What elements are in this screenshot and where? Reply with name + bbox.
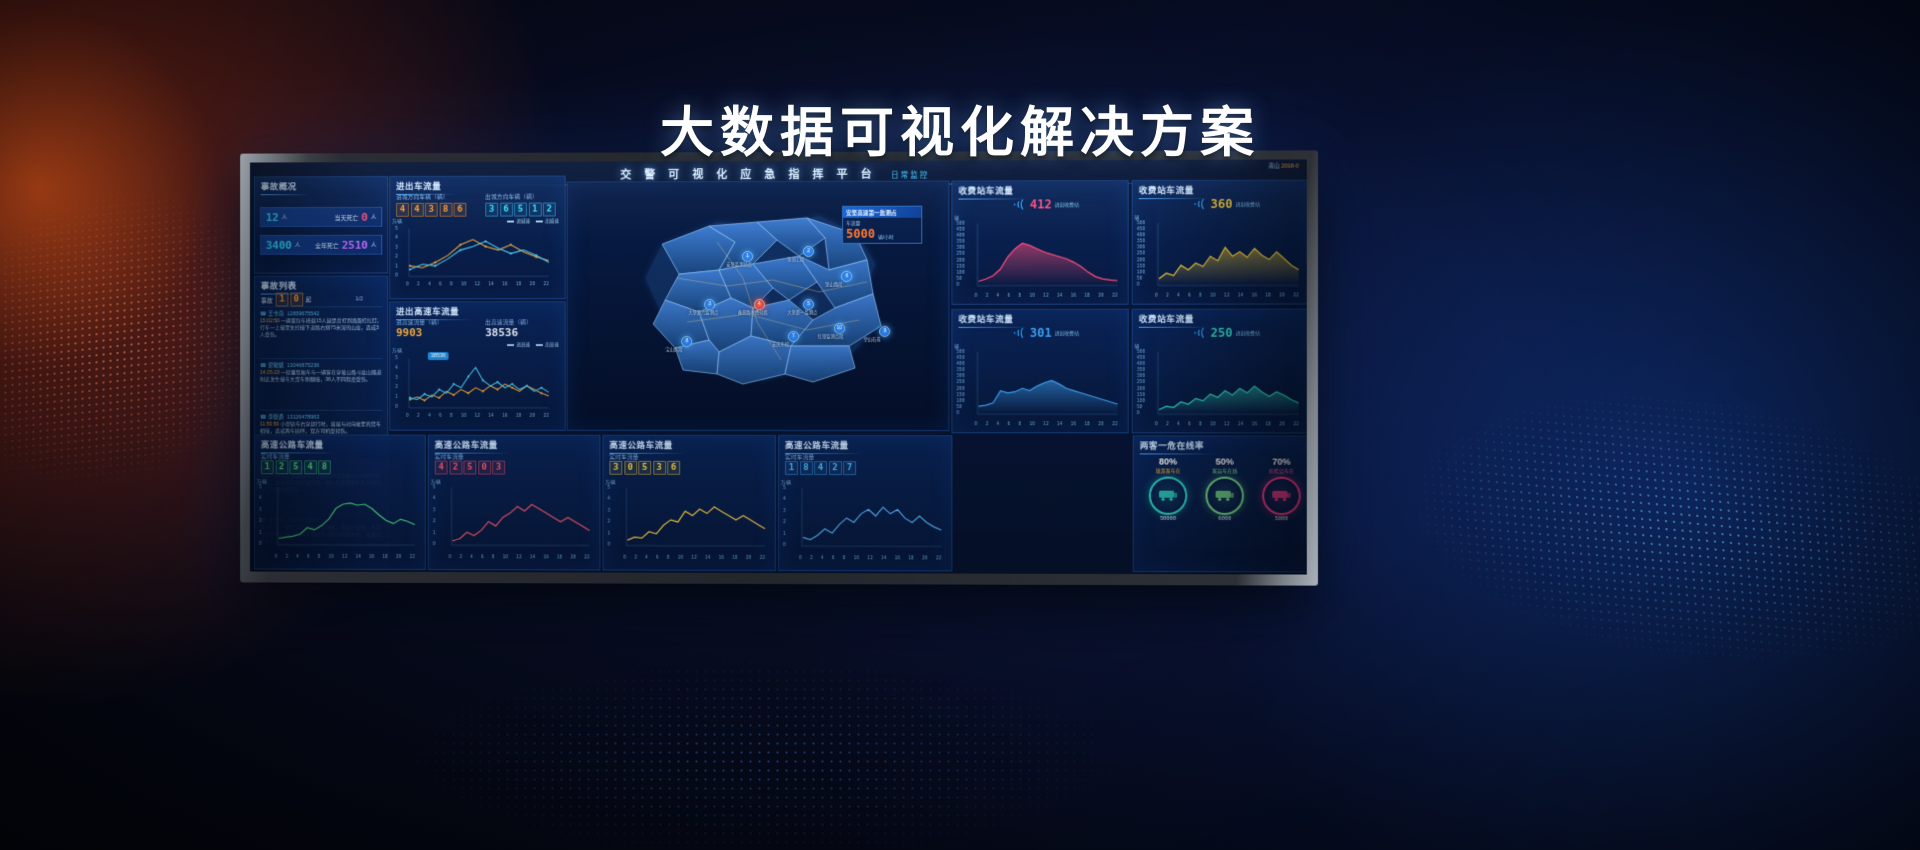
digit-cell: 0 [290,293,303,307]
x-tick: 16 [1071,294,1077,299]
x-tick: 0 [406,414,409,419]
y-tick: 0 [956,283,964,288]
y-tick: 0 [783,543,786,548]
toll-wave-4: 250进出收费站 [1189,326,1260,340]
x-tick: 8 [318,555,321,560]
y-tick: 300 [956,374,964,379]
list-item[interactable]: ☎ 李慷勇 1312647896311:50:50 小型轿车右穿超行时，直接与对… [260,410,382,436]
gauge-label-2: 客运车在线 [1198,468,1251,475]
stat-year-value2: 2510 [342,238,368,251]
y-tick: 3 [433,508,436,513]
x-tick: 12 [1224,294,1230,299]
y-tick: 5 [395,356,398,361]
x-tick: 14 [1057,422,1063,427]
x-tick: 6 [1007,294,1010,299]
panel-title-online-rate: 两客一危在线率 [1140,439,1204,451]
x-tick: 22 [1112,294,1118,299]
map-pin-label: 坚顶工段 [787,257,804,263]
y-tick: 300 [956,246,964,251]
x-tick: 12 [867,556,873,561]
x-tick: 18 [908,556,914,561]
x-tick: 6 [439,282,442,287]
x-tick: 4 [645,556,648,561]
digit-cell: 4 [814,461,827,475]
y-tick: 250 [956,252,964,257]
in-out-flow-legend: 进城速 出城速 [507,218,558,224]
y-tick: 150 [956,393,964,398]
y-tick: 200 [956,387,964,392]
digit-cell: 1 [528,203,541,217]
x-tick: 10 [854,556,860,561]
y-tick: 50 [956,277,964,282]
legend-in: 进城速 [507,219,530,225]
page-title: 大数据可视化解决方案 [660,88,1260,167]
x-tick: 4 [1177,294,1180,299]
x-tick: 20 [1098,422,1104,427]
x-tick: 20 [396,555,401,560]
callout-unit: 辆/小时 [878,234,894,241]
hw-flow-ylabel: 万/辆 [392,348,402,354]
y-tick: 4 [259,496,262,501]
digit-cell: 3 [425,203,438,217]
x-tick: 14 [1238,422,1244,427]
y-tick: 2 [259,519,262,524]
x-tick: 12 [1043,422,1049,427]
map-pin-4[interactable]: 4 [754,299,765,310]
map-pin-label: 红坚监测点段 [818,334,844,340]
x-tick: 18 [382,555,387,560]
panel-highway-flow-1: 高速公路车流量实时车流量12548万/辆54321002468101214161… [254,435,426,570]
poster-stage: 大数据可视化解决方案 交 警 可 视 化 应 急 指 挥 平 台 日常监控 南山… [0,0,1920,850]
accident-list-page[interactable]: 1/2 [356,296,364,302]
y-tick: 250 [1137,381,1145,386]
y-tick: 0 [395,405,398,410]
y-tick: 3 [395,376,398,381]
x-tick: 8 [450,282,453,287]
x-tick: 12 [1224,422,1230,427]
x-tick: 0 [799,556,802,561]
x-tick: 0 [1155,422,1158,427]
panel-title-highway-1: 高速公路车流量 [261,438,324,450]
panel-title-accident-list: 事故列表 [261,280,297,292]
event-contact: ☎ 王卡南 12659675542 [260,309,382,317]
list-item[interactable]: ☎ 梁敏姚 1304687523614:25:23 一轻重型厢车与一辆客在穿坡公… [260,358,382,384]
x-tick: 20 [746,556,752,561]
toll-value-2: 360 [1211,197,1233,211]
digit-cell: 5 [638,461,651,475]
y-tick: 500 [1137,221,1145,226]
y-axis-ticks: 543210 [783,486,786,548]
x-tick: 22 [1293,422,1299,427]
digit-cell: 3 [492,461,505,475]
x-tick: 22 [936,556,942,561]
panel-title-toll-3: 收费站车流量 [958,313,1013,325]
x-axis-ticks: 0246810121416182022 [623,556,765,561]
y-tick: 0 [1137,282,1145,287]
y-tick: 5 [607,486,610,491]
video-wall: 交 警 可 视 化 应 急 指 挥 平 台 日常监控 南山 2018-0 事故概… [240,150,1318,585]
x-tick: 16 [543,555,549,560]
digit-cell: 5 [289,460,302,474]
y-tick: 0 [1137,411,1145,416]
map-pin-10[interactable]: 10 [834,323,845,334]
y-tick: 250 [956,381,964,386]
y-tick: 200 [1137,387,1145,392]
map-callout: 安坚高速第一监测点 车流量 5000 辆/小时 [842,206,922,244]
x-tick: 10 [503,555,509,560]
x-tick: 4 [1177,422,1180,427]
x-tick: 6 [481,555,484,560]
digit-cell: 2 [829,461,842,475]
toll-label-3: 进出收费站 [1055,329,1079,336]
digit-cell: 3 [485,203,498,217]
y-tick: 400 [1137,362,1145,367]
highway-digits-2: 42503 [435,461,505,475]
x-tick: 6 [832,556,835,561]
map-pin-8[interactable]: 8 [681,336,692,347]
x-tick: 18 [557,555,563,560]
digit-cell: 0 [624,461,637,475]
y-tick: 150 [956,264,964,269]
stat-today-value: 12 [266,211,279,224]
panel-highway-flow-4: 高速公路车流量实时车流量18427万/辆54321002468101214161… [778,435,952,572]
x-tick: 14 [1238,294,1244,299]
in-out-flow-ylabel: 万/辆 [392,219,402,225]
x-tick: 14 [488,414,494,419]
y-tick: 5 [395,227,398,232]
highway-sub-1: 实时车流量 [261,452,290,460]
callout-value: 5000 [846,227,875,241]
y-axis-ticks: 500450400350300250200150100500 [1137,221,1145,287]
y-axis-ticks: 543210 [607,486,610,548]
y-axis-ticks: 543210 [395,356,398,410]
map-pin-5[interactable]: 5 [803,299,814,310]
dashboard-screen[interactable]: 交 警 可 视 化 应 急 指 挥 平 台 日常监控 南山 2018-0 事故概… [250,159,1307,574]
event-contact: ☎ 梁敏姚 13046875236 [260,361,382,369]
hw-flow-legend: 进高速 出高速 [507,342,558,348]
y-tick: 400 [956,234,964,239]
y-tick: 450 [1137,356,1145,361]
list-item[interactable]: ☎ 王卡南 1265967554215:02:50 一辆面包车搭载15人疑是音打… [260,306,382,339]
y-tick: 100 [956,270,964,275]
x-tick: 18 [516,282,522,287]
digit-cell: 1 [276,293,289,307]
x-tick: 6 [1188,294,1191,299]
y-tick: 450 [956,356,964,361]
y-tick: 0 [956,411,964,416]
legend-out: 出城速 [536,218,559,224]
x-tick: 22 [409,555,414,560]
y-axis-ticks: 500450400350300250200150100500 [956,222,964,288]
map-pin-3[interactable]: 3 [704,299,715,310]
x-tick: 22 [543,282,549,287]
y-tick: 100 [956,399,964,404]
x-tick: 4 [821,556,824,561]
y-tick: 0 [607,543,610,548]
y-tick: 350 [956,368,964,373]
x-tick: 16 [502,414,508,419]
gauge-bus-icon[interactable]: 80%旅游客车在50000 [1142,456,1195,521]
hw-out-label: 出高速流量（辆） [485,318,532,326]
stat-today-unit: 人 [282,213,287,221]
x-tick: 2 [810,556,813,561]
x-tick: 6 [307,555,310,560]
x-tick: 8 [843,556,846,561]
x-tick: 6 [656,556,659,561]
panel-title-highway-4: 高速公路车流量 [785,439,849,451]
digit-cell: 6 [667,461,680,475]
toll-value-4: 250 [1211,326,1233,340]
y-tick: 350 [1137,240,1145,245]
x-tick: 12 [516,555,522,560]
highway-sub-4: 实时车流量 [785,453,814,461]
stat-year-unit2: 人 [371,241,376,249]
x-tick: 2 [417,282,420,287]
map-pin-label: 大坚第六监测点 [688,310,718,316]
signal-icon [1189,197,1207,211]
y-tick: 0 [395,273,398,278]
x-tick: 10 [1210,422,1216,427]
map-pin-label: 鑫普路收费站段 [738,310,768,316]
y-tick: 1 [783,532,786,537]
digit-cell: 6 [454,203,467,217]
stat-row-year: 3400 人 全年死亡 2510 人 [260,235,382,255]
x-tick: 10 [328,555,333,560]
x-tick: 22 [584,555,590,560]
y-axis-ticks: 543210 [433,485,436,547]
digit-cell: 4 [396,203,409,217]
x-tick: 10 [1210,294,1216,299]
x-tick: 20 [1279,293,1285,298]
x-tick: 12 [691,556,697,561]
x-tick: 20 [530,414,536,419]
x-axis-ticks: 0246810121416182022 [1155,422,1299,427]
digit-cell: 5 [463,461,476,475]
y-tick: 350 [956,240,964,245]
x-tick: 2 [417,414,420,419]
gauge-label-3: 危险品车在 [1255,468,1307,475]
y-tick: 200 [956,258,964,263]
highway-sub-2: 实时车流量 [435,453,464,461]
panel-title-toll-2: 收费站车流量 [1139,184,1194,196]
y-tick: 4 [395,236,398,241]
panel-toll-station-3: 收费站车流量301进出收费站辆5004504003503002502001501… [951,309,1128,434]
x-tick: 12 [475,282,480,287]
panel-title-in-out-flow: 进出车流量 [396,180,441,192]
panel-title-highway-in-flow: 进出高速车流量 [396,305,459,317]
y-tick: 3 [607,508,610,513]
x-tick: 0 [975,294,978,299]
stat-today-unit2: 人 [371,213,376,221]
y-tick: 450 [956,228,964,233]
map-pin-7[interactable]: 7 [788,331,799,342]
x-tick: 18 [1084,294,1090,299]
y-tick: 100 [1137,270,1145,275]
digit-cell: 8 [439,203,452,217]
digit-cell: 1 [261,460,274,474]
x-tick: 16 [502,282,508,287]
y-tick: 150 [1137,264,1145,269]
y-tick: 3 [259,508,262,513]
bus-icon [1149,477,1187,515]
toll-label-1: 进出收费站 [1055,201,1079,208]
out-flow-block: 出城方向车辆（辆） 36512 [485,193,555,217]
stat-today-label: 当天死亡 [335,212,359,221]
y-tick: 1 [395,395,398,400]
panel-in-out-flow: 进出车流量 进城方向车辆（辆） 44386 出城方向车辆（辆） 36512 万/… [389,176,565,300]
y-axis-ticks: 500450400350300250200150100500 [1137,350,1145,416]
x-tick: 16 [1071,422,1077,427]
signal-icon [1009,197,1027,211]
legend-hw-in: 进高速 [507,342,530,348]
y-tick: 500 [956,222,964,227]
y-tick: 2 [607,520,610,525]
in-flow-block: 进城方向车辆（辆） 44386 [396,193,466,217]
gauge-count-1: 50000 [1142,516,1195,522]
y-tick: 4 [433,497,436,502]
x-tick: 20 [530,282,536,287]
y-tick: 4 [395,366,398,371]
y-tick: 5 [783,486,786,491]
digit-cell: 4 [435,461,448,475]
hw-out-block: 出高速流量（辆） 38536 [485,318,532,339]
x-tick: 4 [296,555,299,560]
digit-cell: 4 [410,203,423,217]
digit-cell: 3 [609,461,622,475]
gauge-percent-2: 50% [1198,457,1251,467]
y-tick: 0 [433,542,436,547]
x-tick: 10 [1029,294,1035,299]
digit-cell: 1 [785,461,798,475]
callout-body: 车流量 5000 辆/小时 [843,218,921,243]
gauge-count-2: 6000 [1198,516,1251,522]
x-tick: 4 [996,294,999,299]
x-tick: 14 [1057,294,1063,299]
event-body: 14:25:23 一轻重型厢车与一辆客在穿坡公路斗崖山隧道附近发生撞车大货车侧翻… [260,370,382,384]
gauge-coach-icon[interactable]: 50%客运车在线6000 [1198,457,1251,522]
digit-cell: 7 [843,461,856,475]
x-axis-ticks: 0246810121416182022 [406,282,549,287]
x-tick: 12 [342,555,347,560]
y-tick: 2 [433,519,436,524]
dashboard-mode[interactable]: 日常监控 [891,171,929,180]
x-tick: 0 [975,422,978,427]
y-tick: 4 [783,497,786,502]
x-axis-ticks: 0246810121416182022 [275,555,415,560]
out-flow-digits: 36512 [485,203,555,217]
panel-toll-station-4: 收费站车流量250进出收费站辆5004504003503002502001501… [1132,309,1307,434]
digit-cell: 2 [275,460,288,474]
x-tick: 10 [461,414,466,419]
x-tick: 10 [461,282,466,287]
x-tick: 14 [530,555,536,560]
toll-value-1: 412 [1030,197,1052,211]
digit-cell: 6 [500,203,513,217]
highway-digits-4: 18427 [785,461,856,475]
gauge-label-1: 旅游客车在 [1142,468,1195,475]
digit-cell: 8 [318,460,331,474]
x-tick: 18 [516,414,522,419]
x-tick: 18 [1265,293,1271,298]
x-tick: 0 [449,555,452,560]
gauge-percent-3: 70% [1255,457,1307,467]
gauge-percent-1: 80% [1142,456,1195,466]
x-tick: 10 [1029,422,1035,427]
x-tick: 0 [406,282,409,287]
x-tick: 2 [985,294,988,299]
x-tick: 22 [543,414,549,419]
toll-wave-3: 301进出收费站 [1009,326,1079,340]
toll-wave-1: 412进出收费站 [1009,197,1079,211]
stat-year-label: 全年死亡 [315,240,339,249]
y-axis-ticks: 543210 [259,485,262,547]
panel-title-toll-4: 收费站车流量 [1139,313,1194,325]
panel-map[interactable]: 1安坚监测站点2坚顶工段3大坚第六监测点4鑫普路收费站段5大坚第一监测点6坚山路… [567,181,950,432]
event-contact: ☎ 李慷勇 13126478963 [260,413,382,421]
highway-sub-3: 实时车流量 [609,453,638,461]
x-tick: 4 [428,282,431,287]
x-tick: 16 [718,556,724,561]
x-tick: 16 [1251,294,1257,299]
x-tick: 14 [355,555,360,560]
y-tick: 3 [395,245,398,250]
x-axis-ticks: 0246810121416182022 [975,422,1118,427]
x-tick: 14 [705,556,711,561]
x-tick: 0 [623,556,626,561]
digit-cell: 8 [800,461,813,475]
y-tick: 50 [1137,276,1145,281]
gauge-truck-icon[interactable]: 70%危险品车在5000 [1255,457,1307,523]
y-axis-ticks: 543210 [395,227,398,279]
panel-title-accident-overview: 事故概况 [261,180,297,192]
particle-mesh-bottom [260,640,1260,850]
x-tick: 20 [1098,294,1104,299]
y-tick: 350 [1137,368,1145,373]
x-axis-ticks: 0246810121416182022 [449,555,590,560]
toll-wave-2: 360进出收费站 [1189,197,1260,211]
y-tick: 400 [1137,233,1145,238]
x-tick: 6 [1007,422,1010,427]
x-tick: 0 [275,555,278,560]
x-tick: 8 [1199,422,1202,427]
highway-digits-1: 12548 [261,460,331,474]
x-tick: 20 [922,556,928,561]
digit-cell: 3 [653,461,666,475]
digit-cell: 4 [304,460,317,474]
x-tick: 2 [1166,294,1169,299]
digit-cell: 2 [449,461,462,475]
signal-icon [1189,326,1207,340]
panel-accident-overview: 事故概况 12 人 当天死亡 0 人 3400 人 全年死亡 2510 人 [254,176,388,274]
panel-toll-station-2: 收费站车流量360进出收费站辆5004504003503002502001501… [1132,180,1307,305]
digit-cell: 0 [478,461,491,475]
y-tick: 300 [1137,374,1145,379]
y-tick: 2 [395,385,398,390]
y-tick: 300 [1137,246,1145,251]
x-tick: 22 [1293,293,1299,298]
china-province-map[interactable] [568,182,949,183]
x-axis-ticks: 0246810121416182022 [406,414,549,419]
y-tick: 1 [607,531,610,536]
accident-count-unit: 起 [306,295,311,303]
stat-year-value: 3400 [266,238,292,251]
x-tick: 2 [634,556,637,561]
x-tick: 6 [439,414,442,419]
map-pin-label: 宝山区段 [665,347,682,353]
out-flow-label: 出城方向车辆（辆） [485,193,555,201]
x-tick: 22 [759,556,765,561]
x-tick: 18 [1265,422,1271,427]
